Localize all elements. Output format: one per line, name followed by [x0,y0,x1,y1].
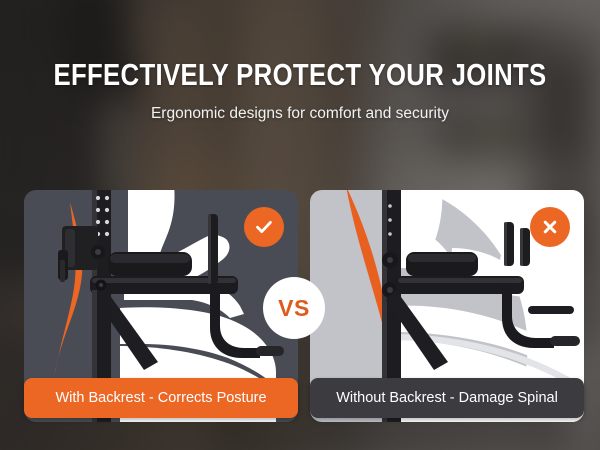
close-badge [530,207,570,247]
caption-without-backrest: Without Backrest - Damage Spinal [310,378,584,418]
check-badge [244,207,284,247]
vs-divider-badge: VS [263,277,325,339]
caption-with-backrest: With Backrest - Corrects Posture [24,378,298,418]
vs-label: VS [278,297,310,320]
check-icon [253,216,275,238]
close-icon [539,216,561,238]
promo-banner: EFFECTIVELY PROTECT YOUR JOINTS Ergonomi… [0,0,600,450]
